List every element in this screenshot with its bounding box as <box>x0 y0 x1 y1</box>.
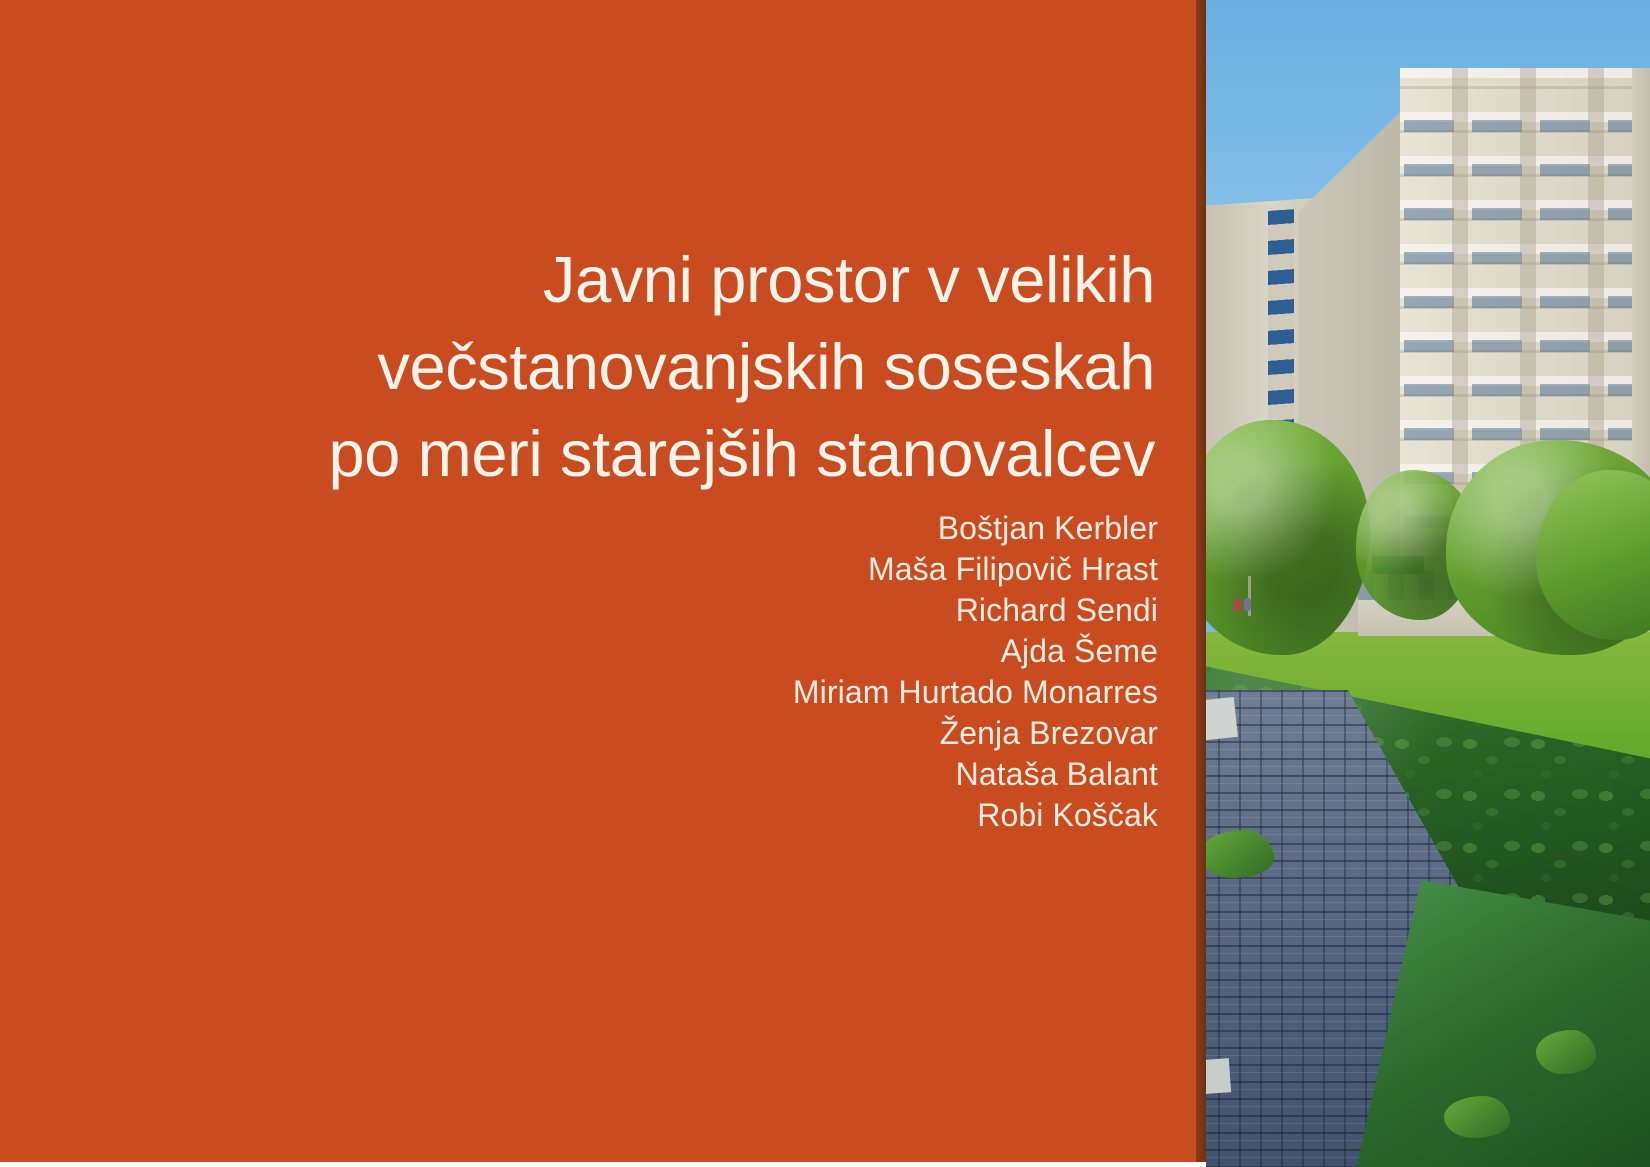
book-cover: Javni prostor v velikih večstanovanjskih… <box>0 0 1650 1167</box>
author-name: Ajda Šeme <box>158 631 1158 672</box>
page-title: Javni prostor v velikih večstanovanjskih… <box>155 236 1155 497</box>
author-list: Boštjan Kerbler Maša Filipovič Hrast Ric… <box>158 508 1158 836</box>
author-name: Nataša Balant <box>158 754 1158 795</box>
distant-person <box>1234 598 1241 611</box>
author-name: Robi Koščak <box>158 795 1158 836</box>
title-line-1: Javni prostor v velikih <box>155 236 1155 323</box>
author-name: Miriam Hurtado Monarres <box>158 672 1158 713</box>
title-line-2: večstanovanjskih soseskah <box>155 323 1155 410</box>
author-name: Richard Sendi <box>158 590 1158 631</box>
author-name: Ženja Brezovar <box>158 713 1158 754</box>
author-name: Boštjan Kerbler <box>158 508 1158 549</box>
distant-person <box>1244 598 1251 611</box>
author-name: Maša Filipovič Hrast <box>158 549 1158 590</box>
roadside-plant <box>1536 1030 1596 1074</box>
roadside-plant <box>1444 1096 1510 1138</box>
cover-photograph <box>1206 0 1650 1167</box>
roadside-plant <box>1206 830 1274 878</box>
path-kerb <box>1206 697 1238 743</box>
bottom-page-edge <box>0 1162 1206 1167</box>
spine-shadow-strip <box>1196 0 1206 1162</box>
title-line-3: po meri starejših stanovalcev <box>155 410 1155 497</box>
path-kerb <box>1206 1058 1231 1096</box>
